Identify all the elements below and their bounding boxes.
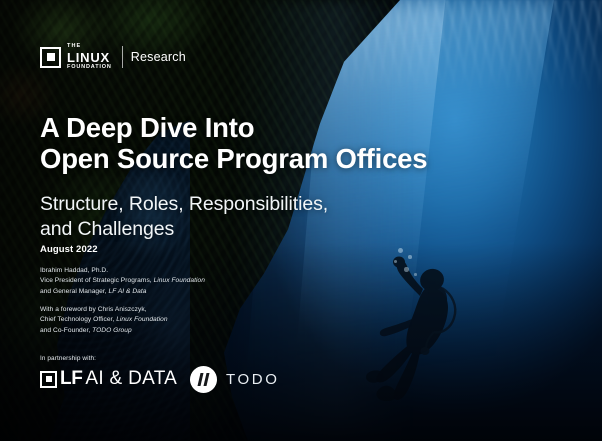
page-subtitle: Structure, Roles, Responsibilities, and … [40, 192, 328, 242]
lf-ai-and-data-logo: LF AI & DATA [40, 368, 177, 390]
title-line-2: Open Source Program Offices [40, 143, 427, 174]
foreword-3-prefix: and Co-Founder, [40, 327, 92, 334]
logo-divider [122, 46, 123, 68]
lf-ai-mark-icon [40, 371, 57, 388]
lf-ai-lf-text: LF [60, 368, 82, 390]
foreword-2-prefix: Chief Technology Officer, [40, 316, 116, 323]
author-role-2-prefix: and General Manager, [40, 288, 109, 295]
foreword-line-3: and Co-Founder, TODO Group [40, 326, 168, 336]
foreword-org-1: Linux Foundation [116, 316, 167, 323]
lf-ai-rest-text: AI & DATA [85, 368, 177, 390]
cover-content: THE LINUX FOUNDATION Research A Deep Div… [0, 0, 602, 441]
subtitle-line-2: and Challenges [40, 218, 174, 240]
title-line-1: A Deep Dive Into [40, 112, 254, 143]
publication-date: August 2022 [40, 244, 98, 255]
logo-research-label: Research [131, 50, 186, 64]
foreword-credits: With a foreword by Chris Aniszczyk, Chie… [40, 305, 168, 336]
report-cover-page: THE LINUX FOUNDATION Research A Deep Div… [0, 0, 602, 441]
linux-foundation-wordmark: THE LINUX FOUNDATION [67, 44, 112, 70]
todo-group-logo: TODO [190, 366, 279, 393]
author-org-1: Linux Foundation [154, 277, 205, 284]
page-title: A Deep Dive Into Open Source Program Off… [40, 112, 427, 174]
linux-foundation-research-logo: THE LINUX FOUNDATION Research [40, 44, 186, 70]
foreword-line-2: Chief Technology Officer, Linux Foundati… [40, 315, 168, 325]
author-name: Ibrahim Haddad, Ph.D. [40, 266, 205, 276]
todo-slashes-icon [190, 366, 217, 393]
author-role-line-1: Vice President of Strategic Programs, Li… [40, 276, 205, 286]
author-role-1-prefix: Vice President of Strategic Programs, [40, 277, 154, 284]
author-role-line-2: and General Manager, LF AI & Data [40, 287, 205, 297]
author-org-2: LF AI & Data [109, 288, 147, 295]
todo-wordmark: TODO [226, 371, 279, 388]
logo-foundation-text: FOUNDATION [67, 65, 112, 71]
foreword-org-2: TODO Group [92, 327, 132, 334]
linux-foundation-mark-icon [40, 47, 61, 68]
subtitle-line-1: Structure, Roles, Responsibilities, [40, 193, 328, 215]
logo-the-text: THE [67, 44, 112, 50]
logo-linux-text: LINUX [67, 51, 112, 64]
partnership-label: In partnership with: [40, 355, 96, 362]
foreword-line-1: With a foreword by Chris Aniszczyk, [40, 305, 168, 315]
author-credits: Ibrahim Haddad, Ph.D. Vice President of … [40, 266, 205, 297]
